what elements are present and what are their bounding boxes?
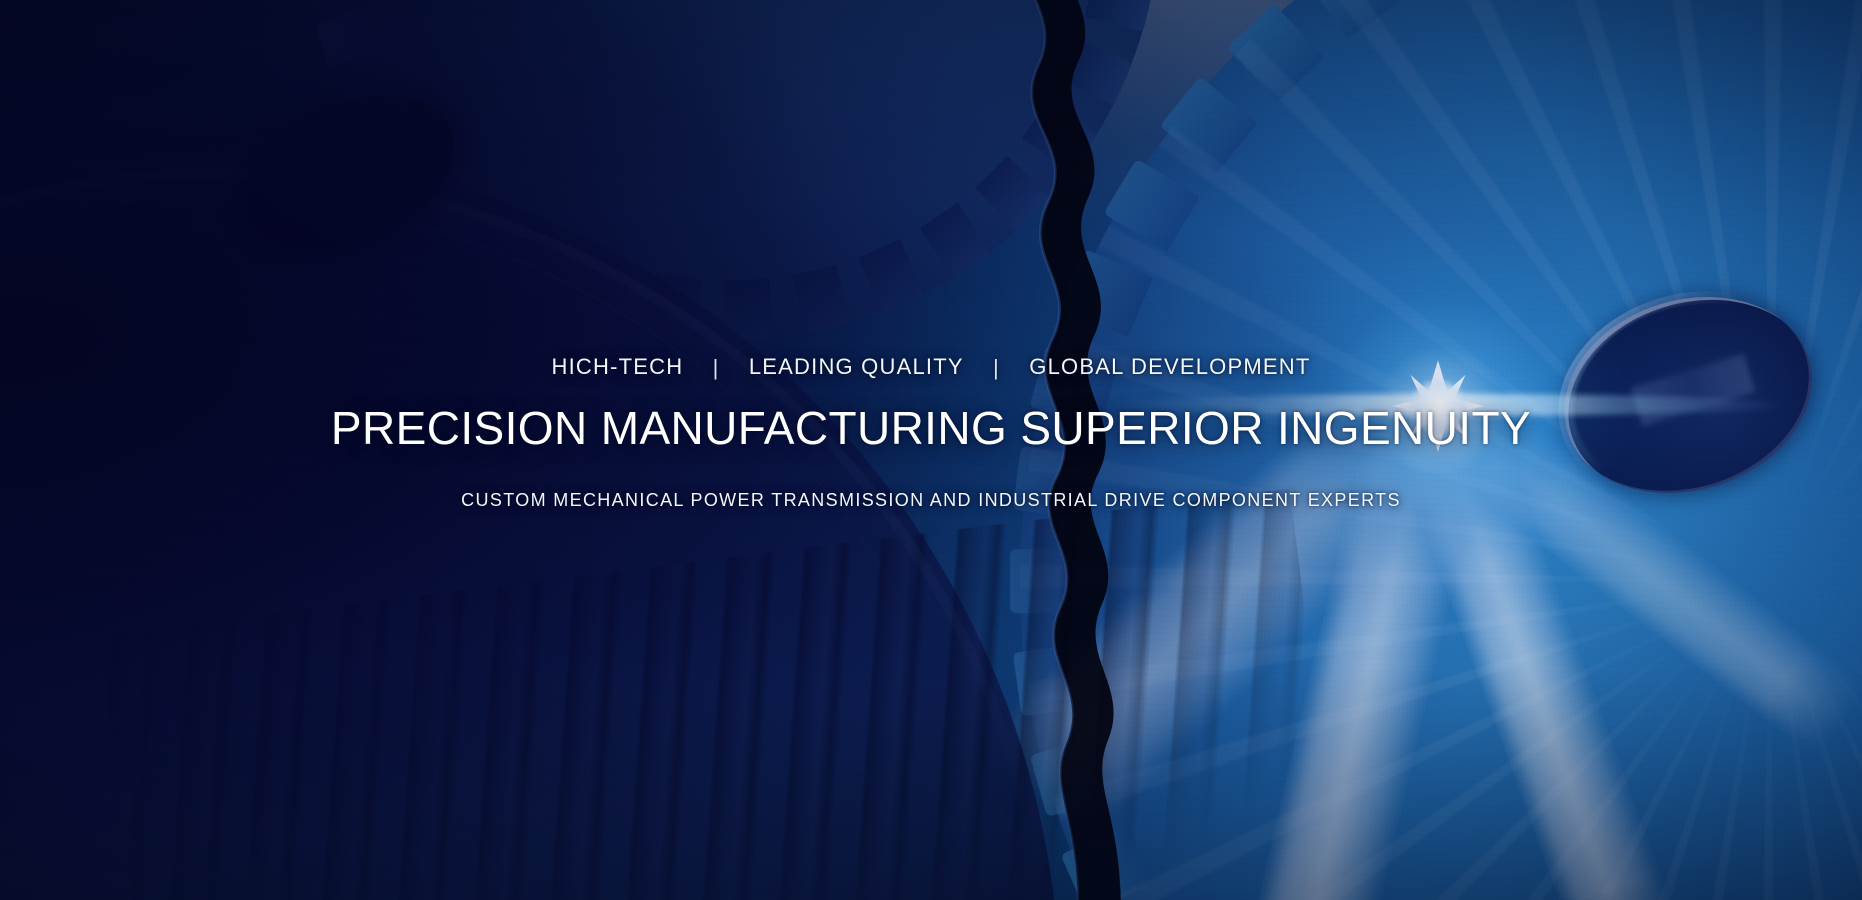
eyebrow-segment-2: LEADING QUALITY: [749, 352, 964, 382]
hero-subtitle: CUSTOM MECHANICAL POWER TRANSMISSION AND…: [0, 487, 1862, 513]
eyebrow-separator: |: [691, 353, 742, 383]
hero-copy-block: HICH-TECH | LEADING QUALITY | GLOBAL DEV…: [0, 352, 1862, 513]
eyebrow-segment-1: HICH-TECH: [552, 352, 684, 382]
hero-eyebrow: HICH-TECH | LEADING QUALITY | GLOBAL DEV…: [0, 352, 1862, 382]
eyebrow-segment-3: GLOBAL DEVELOPMENT: [1029, 352, 1310, 382]
eyebrow-separator: |: [971, 353, 1022, 383]
hero-banner: HICH-TECH | LEADING QUALITY | GLOBAL DEV…: [0, 0, 1862, 900]
hero-title: PRECISION MANUFACTURING SUPERIOR INGENUI…: [0, 400, 1862, 456]
